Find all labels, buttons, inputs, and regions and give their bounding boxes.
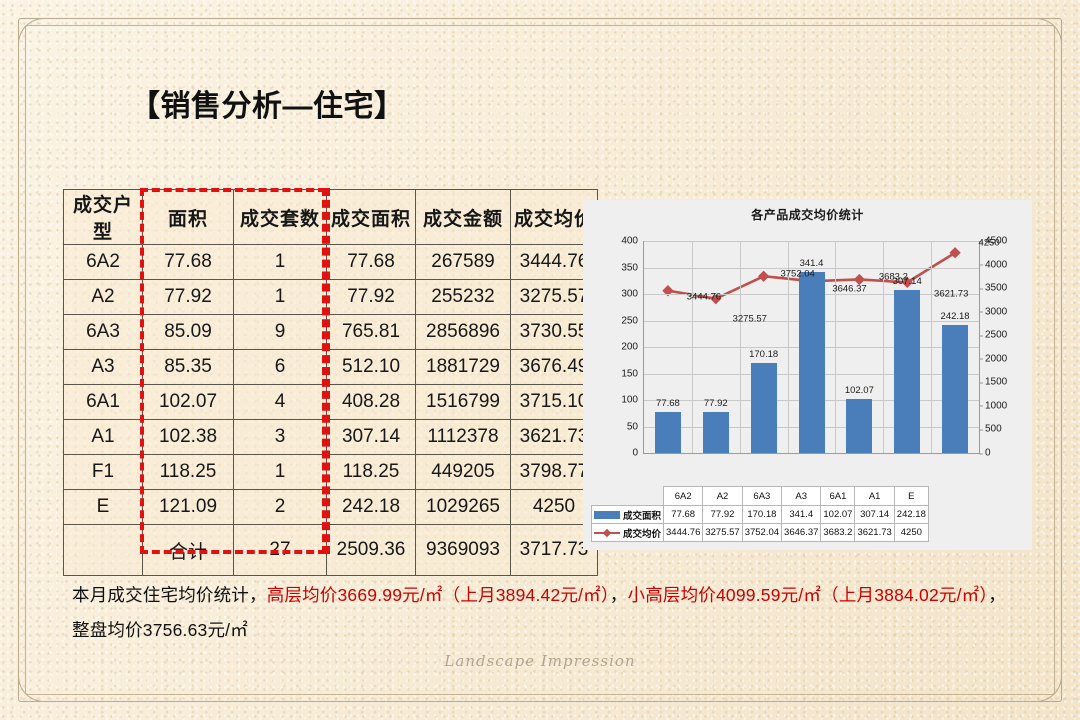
cell-area: 85.35 xyxy=(143,350,234,385)
slide-title: 【销售分析—住宅】 xyxy=(130,88,550,126)
cell-area: 102.38 xyxy=(143,420,234,455)
bar-value-label: 102.07 xyxy=(845,385,874,396)
column-separator xyxy=(692,241,693,453)
line-value-label: 3646.37 xyxy=(832,284,866,295)
bar-value-label: 77.92 xyxy=(704,398,728,409)
cell-sold_area: 242.18 xyxy=(327,490,416,525)
footnote-sep1: ， xyxy=(610,585,628,605)
legend-category-E: E xyxy=(894,487,928,506)
y-axis-right-tick: 4000 xyxy=(985,259,1007,270)
cell-amount: 1029265 xyxy=(416,490,511,525)
y-axis-left-tick: 50 xyxy=(627,421,638,432)
cell-amount: 267589 xyxy=(416,245,511,280)
legend-value-cell: 77.92 xyxy=(703,506,742,524)
y-axis-right-tick: 3500 xyxy=(985,283,1007,294)
footnote-part2: 整盘均价3756.63元/㎡ xyxy=(72,620,248,640)
y-axis-right-tick: 500 xyxy=(985,424,1002,435)
table-row: F1118.251118.254492053798.77 xyxy=(64,455,598,490)
y-axis-left-tick: 350 xyxy=(621,262,638,273)
y-axis-left-tick: 250 xyxy=(621,315,638,326)
cell-area: 85.09 xyxy=(143,315,234,350)
cell-amount: 2856896 xyxy=(416,315,511,350)
column-separator xyxy=(835,241,836,453)
legend-bar-swatch-icon xyxy=(594,511,620,519)
legend-line-swatch-icon xyxy=(594,529,620,537)
cell-sold_area: 77.68 xyxy=(327,245,416,280)
cell-units: 6 xyxy=(234,350,327,385)
cell-type: A2 xyxy=(64,280,143,315)
table-header-row: 成交户型面积成交套数成交面积成交金额成交均价 xyxy=(64,190,598,245)
table-row: A1102.383307.1411123783621.73 xyxy=(64,420,598,455)
bar-A3 xyxy=(799,272,825,453)
bar-value-label: 341.4 xyxy=(800,258,824,269)
line-value-label: 3621.73 xyxy=(934,289,968,300)
y-axis-right-tick: 2500 xyxy=(985,330,1007,341)
y-axis-right-tick: 1000 xyxy=(985,400,1007,411)
legend-blank-cell xyxy=(592,487,664,506)
bar-E xyxy=(942,325,968,453)
cell-amount: 1881729 xyxy=(416,350,511,385)
cell-area: 118.25 xyxy=(143,455,234,490)
line-value-label: 3275.57 xyxy=(733,313,767,324)
footnote-highlight-xiaogaoceng: 小高层均价4099.59元/㎡（上月3884.02元/㎡） xyxy=(628,585,989,605)
legend-series-header: 成交面积 xyxy=(592,506,664,524)
cell-units: 9 xyxy=(234,315,327,350)
total-cell-area: 合计 xyxy=(143,525,234,576)
legend-value-cell: 3444.76 xyxy=(664,524,703,542)
table-header-1: 面积 xyxy=(143,190,234,245)
column-separator xyxy=(931,241,932,453)
legend-series-header: 成交均价 xyxy=(592,524,664,542)
total-cell-sold_area: 2509.36 xyxy=(327,525,416,576)
cell-type: A3 xyxy=(64,350,143,385)
y-axis-left-tick: 150 xyxy=(621,368,638,379)
legend-series-row: 成交均价3444.763275.573752.043646.373683.236… xyxy=(592,524,929,542)
footnote-highlight-gaoceng: 高层均价3669.99元/㎡（上月3894.42元/㎡） xyxy=(267,585,610,605)
legend-value-cell: 242.18 xyxy=(894,506,928,524)
chart-plot-area: 0501001502002503003504000500100015002000… xyxy=(643,241,980,454)
line-value-label: 3683.2 xyxy=(879,272,908,283)
table-total-row: 合计272509.3693690933717.73 xyxy=(64,525,598,576)
line-value-label: 3444.76 xyxy=(687,291,721,302)
legend-category-6A1: 6A1 xyxy=(821,487,855,506)
cell-amount: 255232 xyxy=(416,280,511,315)
sales-table: 成交户型面积成交套数成交面积成交金额成交均价 6A277.68177.68267… xyxy=(63,189,598,576)
cell-amount: 1112378 xyxy=(416,420,511,455)
slide-canvas: 【销售分析—住宅】 成交户型面积成交套数成交面积成交金额成交均价 6A277.6… xyxy=(0,0,1080,720)
y-axis-left-tick: 0 xyxy=(632,448,638,459)
total-cell-units: 27 xyxy=(234,525,327,576)
cell-amount: 1516799 xyxy=(416,385,511,420)
table-row: 6A277.68177.682675893444.76 xyxy=(64,245,598,280)
cell-units: 1 xyxy=(234,280,327,315)
cell-units: 4 xyxy=(234,385,327,420)
gridline xyxy=(644,241,979,242)
legend-category-6A3: 6A3 xyxy=(742,487,781,506)
legend-category-row: 6A2A26A3A36A1A1E xyxy=(592,487,929,506)
footnote-part1: 本月成交住宅均价统计， xyxy=(72,585,267,605)
y-axis-left-tick: 100 xyxy=(621,395,638,406)
cell-units: 1 xyxy=(234,455,327,490)
cell-sold_area: 307.14 xyxy=(327,420,416,455)
line-value-label: 4250 xyxy=(978,237,999,248)
table-header-0: 成交户型 xyxy=(64,190,143,245)
line-value-label: 3752.04 xyxy=(780,269,814,280)
y-axis-right-tick: 2000 xyxy=(985,353,1007,364)
legend-value-cell: 3683.2 xyxy=(821,524,855,542)
cell-sold_area: 77.92 xyxy=(327,280,416,315)
bar-A1 xyxy=(894,290,920,453)
cell-area: 77.68 xyxy=(143,245,234,280)
table-header-2: 成交套数 xyxy=(234,190,327,245)
table-row: 6A1102.074408.2815167993715.10 xyxy=(64,385,598,420)
bar-value-label: 170.18 xyxy=(749,349,778,360)
cell-type: A1 xyxy=(64,420,143,455)
cell-type: F1 xyxy=(64,455,143,490)
total-cell-amount: 9369093 xyxy=(416,525,511,576)
cell-area: 77.92 xyxy=(143,280,234,315)
bar-6A1 xyxy=(846,399,872,453)
legend-value-cell: 307.14 xyxy=(855,506,894,524)
cell-amount: 449205 xyxy=(416,455,511,490)
cell-area: 102.07 xyxy=(143,385,234,420)
cell-units: 3 xyxy=(234,420,327,455)
total-cell-type xyxy=(64,525,143,576)
table-header-3: 成交面积 xyxy=(327,190,416,245)
legend-category-A3: A3 xyxy=(782,487,821,506)
y-axis-left-tick: 400 xyxy=(621,236,638,247)
legend-series-name: 成交面积 xyxy=(623,508,661,522)
watermark-text: Landscape Impression xyxy=(0,652,1080,670)
legend-value-cell: 3752.04 xyxy=(742,524,781,542)
bar-6A3 xyxy=(751,363,777,453)
legend-value-cell: 170.18 xyxy=(742,506,781,524)
cell-sold_area: 408.28 xyxy=(327,385,416,420)
bar-value-label: 77.68 xyxy=(656,398,680,409)
legend-value-cell: 341.4 xyxy=(782,506,821,524)
chart-legend-data-table: 6A2A26A3A36A1A1E成交面积77.6877.92170.18341.… xyxy=(591,486,929,542)
y-axis-left-tick: 300 xyxy=(621,289,638,300)
avg-price-chart: 各产品成交均价统计 050100150200250300350400050010… xyxy=(583,200,1032,550)
cell-type: 6A3 xyxy=(64,315,143,350)
chart-title: 各产品成交均价统计 xyxy=(583,206,1032,223)
cell-sold_area: 765.81 xyxy=(327,315,416,350)
cell-units: 2 xyxy=(234,490,327,525)
legend-series-name: 成交均价 xyxy=(623,526,661,540)
table-row: E121.092242.1810292654250 xyxy=(64,490,598,525)
y-axis-right-tick: 3000 xyxy=(985,306,1007,317)
bar-6A2 xyxy=(655,412,681,453)
legend-value-cell: 102.07 xyxy=(821,506,855,524)
footnote-sep2: ， xyxy=(988,585,1006,605)
y-axis-right-tick: 0 xyxy=(985,448,991,459)
cell-type: 6A2 xyxy=(64,245,143,280)
cell-sold_area: 118.25 xyxy=(327,455,416,490)
legend-category-A2: A2 xyxy=(703,487,742,506)
legend-category-6A2: 6A2 xyxy=(664,487,703,506)
legend-value-cell: 4250 xyxy=(894,524,928,542)
legend-value-cell: 3621.73 xyxy=(855,524,894,542)
legend-category-A1: A1 xyxy=(855,487,894,506)
table-row: A277.92177.922552323275.57 xyxy=(64,280,598,315)
legend-value-cell: 3275.57 xyxy=(703,524,742,542)
table-header-4: 成交金额 xyxy=(416,190,511,245)
cell-area: 121.09 xyxy=(143,490,234,525)
cell-sold_area: 512.10 xyxy=(327,350,416,385)
footnote-paragraph: 本月成交住宅均价统计，高层均价3669.99元/㎡（上月3894.42元/㎡），… xyxy=(72,578,1016,648)
column-separator xyxy=(740,241,741,453)
legend-value-cell: 3646.37 xyxy=(782,524,821,542)
cell-type: 6A1 xyxy=(64,385,143,420)
table-row: 6A385.099765.8128568963730.55 xyxy=(64,315,598,350)
cell-type: E xyxy=(64,490,143,525)
y-axis-right-tick: 1500 xyxy=(985,377,1007,388)
y-axis-left-tick: 200 xyxy=(621,342,638,353)
legend-value-cell: 77.68 xyxy=(664,506,703,524)
cell-units: 1 xyxy=(234,245,327,280)
bar-value-label: 242.18 xyxy=(941,311,970,322)
bar-A2 xyxy=(703,412,729,453)
table-row: A385.356512.1018817293676.49 xyxy=(64,350,598,385)
legend-series-row: 成交面积77.6877.92170.18341.4102.07307.14242… xyxy=(592,506,929,524)
sales-table-container: 成交户型面积成交套数成交面积成交金额成交均价 6A277.68177.68267… xyxy=(63,189,598,576)
